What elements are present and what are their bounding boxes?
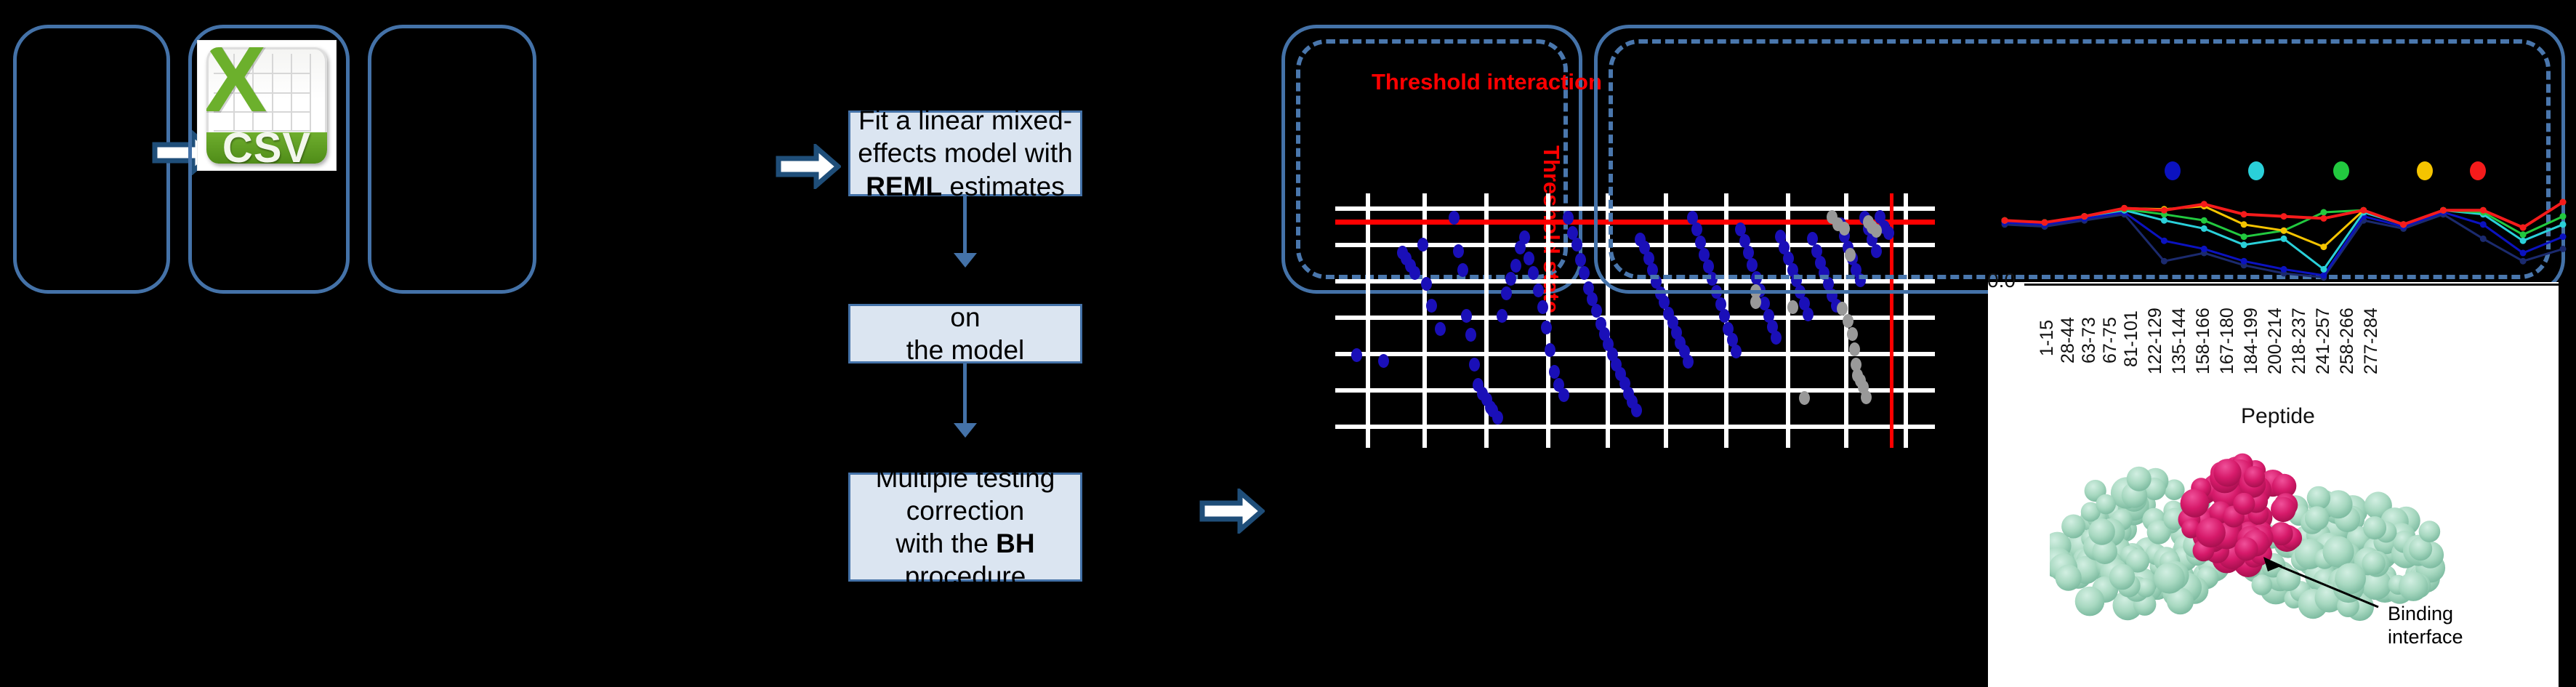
peptide-line-marker bbox=[2320, 209, 2327, 216]
peptide-line-marker bbox=[2241, 233, 2247, 240]
protein-surface-atom bbox=[2363, 516, 2386, 539]
peptide-tick: 158-166 bbox=[2193, 308, 2214, 374]
peptide-line-marker bbox=[2560, 199, 2567, 206]
scatter-point bbox=[1861, 390, 1872, 404]
peptide-line-marker bbox=[2281, 213, 2287, 220]
peptide-line-marker bbox=[2081, 213, 2088, 220]
scatter-point bbox=[1579, 266, 1590, 280]
binding-interface-label: Binding interface bbox=[2388, 602, 2463, 649]
peptide-tick: 184-199 bbox=[2241, 308, 2262, 374]
connector-1-arrowhead bbox=[954, 253, 977, 268]
input-data-panel bbox=[13, 25, 170, 294]
peptide-line-marker bbox=[2121, 205, 2128, 212]
scatter-point bbox=[1497, 309, 1508, 323]
peptide-line-marker bbox=[2161, 258, 2168, 265]
scatter-point bbox=[1591, 304, 1602, 318]
protein-surface-atom bbox=[2252, 574, 2273, 595]
statistical-analysis-panel bbox=[368, 25, 536, 294]
peptide-line-marker bbox=[2360, 207, 2367, 214]
protein-surface-atom bbox=[2109, 564, 2135, 590]
scatter-point bbox=[1465, 328, 1476, 342]
scatter-point bbox=[1799, 391, 1810, 405]
protein-surface-atom bbox=[2307, 486, 2330, 510]
peptide-xaxis bbox=[2024, 284, 2559, 286]
peptide-line-marker bbox=[2241, 241, 2247, 248]
peptide-line-marker bbox=[2281, 228, 2287, 234]
scatter-point bbox=[1787, 300, 1798, 314]
scatter-point bbox=[1631, 403, 1642, 417]
protein-surface-atom bbox=[2088, 518, 2115, 545]
fit-model-box: Fit a linear mixed- effects model with R… bbox=[848, 111, 1082, 196]
peptide-line-marker bbox=[2520, 231, 2527, 238]
scatter-point bbox=[1351, 348, 1362, 362]
connector-1 bbox=[963, 196, 967, 259]
scatter-point bbox=[1558, 388, 1569, 402]
peptide-tick: 200-214 bbox=[2265, 308, 2286, 374]
scatter-point bbox=[1492, 411, 1503, 425]
peptide-line-marker bbox=[2320, 272, 2327, 278]
peptide-line-marker bbox=[2201, 201, 2207, 207]
peptide-surface-atom bbox=[2196, 518, 2226, 547]
connector-2 bbox=[963, 363, 967, 429]
scatter-point bbox=[1719, 309, 1730, 323]
peptide-tick: 277-284 bbox=[2361, 308, 2382, 374]
protein-surface-atom bbox=[2075, 587, 2105, 616]
peptide-line-marker bbox=[2320, 244, 2327, 250]
peptide-line-marker bbox=[2161, 238, 2168, 244]
peptide-line-marker bbox=[2281, 266, 2287, 273]
protein-surface-atom bbox=[2419, 521, 2441, 542]
flow-arrow-analysis-to-scatter bbox=[1199, 489, 1265, 534]
scatter-point bbox=[1528, 266, 1539, 280]
scatter-point bbox=[1533, 284, 1544, 297]
peptide-line-marker bbox=[2041, 220, 2048, 226]
protein-surface-atom bbox=[2335, 563, 2366, 594]
scatter-point bbox=[1575, 253, 1586, 267]
threshold-interaction-title: Threshold interaction bbox=[1372, 69, 1602, 95]
scatter-point bbox=[1435, 322, 1446, 336]
csv-icon-body: X CSV bbox=[206, 47, 326, 164]
peptide-surface-atom bbox=[2270, 522, 2293, 545]
scatter-point bbox=[1750, 295, 1761, 309]
scatter-point bbox=[1510, 259, 1521, 273]
scatter-point bbox=[1453, 244, 1464, 258]
scatter-point bbox=[1449, 211, 1460, 225]
peptide-surface-atom bbox=[2271, 497, 2296, 523]
peptide-line-marker bbox=[2520, 258, 2527, 265]
scatter-point bbox=[1426, 299, 1437, 313]
peptide-line-marker bbox=[2201, 217, 2207, 224]
peptide-tick: 63-73 bbox=[2079, 317, 2100, 363]
scatter-point bbox=[1571, 238, 1582, 252]
peptide-line-marker bbox=[2560, 233, 2567, 240]
peptide-surface-atom bbox=[2181, 489, 2209, 517]
peptide-axis-caption: Peptide bbox=[2241, 404, 2315, 429]
peptide-line-marker bbox=[2281, 236, 2287, 242]
peptide-line-marker bbox=[2241, 221, 2247, 228]
scatter-point bbox=[1683, 355, 1694, 369]
scatter-point bbox=[1421, 277, 1432, 291]
scatter-point bbox=[1849, 342, 1860, 356]
protein-surface-atom bbox=[2399, 572, 2428, 601]
scatter-point bbox=[1803, 308, 1814, 321]
peptide-line-marker bbox=[2520, 225, 2527, 231]
scatter-point bbox=[1461, 309, 1472, 323]
peptide-surface-atom bbox=[2233, 493, 2255, 515]
peptide-line-marker bbox=[2480, 236, 2487, 242]
peptide-tick: 28-44 bbox=[2058, 317, 2079, 363]
peptide-line-marker bbox=[2480, 221, 2487, 228]
scatter-point bbox=[1457, 263, 1468, 277]
peptide-line-marker bbox=[2201, 246, 2207, 252]
peptide-tick: 241-257 bbox=[2313, 308, 2334, 374]
peptide-surface-atom bbox=[2213, 459, 2241, 486]
peptide-line-marker bbox=[2560, 221, 2567, 228]
scatter-point bbox=[1771, 331, 1782, 345]
scatter-point bbox=[1843, 314, 1853, 328]
scatter-point bbox=[1537, 300, 1548, 314]
peptide-line-marker bbox=[2241, 258, 2247, 265]
peptide-line-marker bbox=[2002, 217, 2008, 224]
fit-model-text: Fit a linear mixed- effects model with R… bbox=[858, 104, 1072, 202]
peptide-tick: 218-237 bbox=[2289, 308, 2310, 374]
protein-surface-atom bbox=[2096, 494, 2116, 515]
flow-arrow-csv-to-model bbox=[776, 144, 841, 189]
peptide-surface-atom bbox=[2244, 466, 2265, 487]
peptide-tick: 1-15 bbox=[2037, 320, 2058, 356]
peptide-line-marker bbox=[2161, 217, 2168, 224]
scatter-point bbox=[1549, 365, 1560, 379]
protein-surface-atom bbox=[2127, 467, 2152, 491]
scatter-point bbox=[1417, 238, 1428, 252]
scatter-point bbox=[1541, 321, 1552, 334]
yaxis-tick-0: 0.0 bbox=[1987, 269, 2016, 292]
scatter-point bbox=[1545, 343, 1555, 357]
protein-surface-atom bbox=[2305, 506, 2329, 530]
peptide-line-marker bbox=[2480, 207, 2487, 214]
peptide-tick: 81-101 bbox=[2121, 310, 2142, 367]
excel-x-glyph: X bbox=[210, 51, 260, 107]
csv-file-icon: X CSV bbox=[198, 41, 336, 170]
peptide-tick: 135-144 bbox=[2169, 308, 2190, 374]
scatter-point bbox=[1501, 286, 1512, 300]
multiple-testing-text: Multiple testing correction with the BH … bbox=[858, 462, 1073, 593]
peptide-tick: 167-180 bbox=[2217, 308, 2238, 374]
protein-surface-atom bbox=[2362, 552, 2385, 575]
protein-surface-atom bbox=[2154, 563, 2185, 594]
scatter-point bbox=[1519, 230, 1530, 244]
protein-surface-atom bbox=[2056, 565, 2082, 591]
scatter-point bbox=[1505, 272, 1516, 286]
peptide-line-marker bbox=[2520, 238, 2527, 244]
connector-2-arrowhead bbox=[954, 423, 977, 438]
peptide-line-marker bbox=[2440, 207, 2447, 214]
scatter-point bbox=[1563, 211, 1574, 225]
scatter-point bbox=[1524, 252, 1534, 265]
peptide-line-marker bbox=[2400, 221, 2407, 228]
peptide-line-s5 bbox=[2005, 212, 2563, 276]
protein-surface-atom bbox=[2323, 537, 2354, 568]
scatter-point bbox=[1469, 358, 1480, 371]
peptide-line-marker bbox=[2201, 225, 2207, 232]
multiple-testing-box: Multiple testing correction with the BH … bbox=[848, 473, 1082, 582]
peptide-line-marker bbox=[2320, 266, 2327, 273]
peptide-surface-atom bbox=[2234, 537, 2258, 561]
peptide-line-marker bbox=[2560, 213, 2567, 220]
peptide-tick: 122-129 bbox=[2145, 308, 2166, 374]
scatter-point bbox=[1378, 354, 1389, 368]
peptide-line-marker bbox=[2560, 246, 2567, 252]
peptide-line-chart bbox=[1992, 174, 2576, 284]
wald-tests-box: Apply Wald tests on the model parameters bbox=[848, 304, 1082, 363]
peptide-tick: 67-75 bbox=[2100, 317, 2121, 363]
csv-label-band: CSV bbox=[206, 132, 326, 164]
scatter-point bbox=[1847, 327, 1858, 341]
csv-label-text: CSV bbox=[222, 124, 311, 164]
peptide-line-marker bbox=[2161, 207, 2168, 214]
peptide-line-marker bbox=[2320, 215, 2327, 222]
peptide-line-marker bbox=[2241, 211, 2247, 217]
protein-surface-atom bbox=[2061, 515, 2085, 539]
peptide-line-marker bbox=[2520, 250, 2527, 257]
scatter-point bbox=[1731, 345, 1742, 358]
peptide-tick: 258-266 bbox=[2337, 308, 2358, 374]
scatter-point bbox=[1409, 266, 1420, 280]
